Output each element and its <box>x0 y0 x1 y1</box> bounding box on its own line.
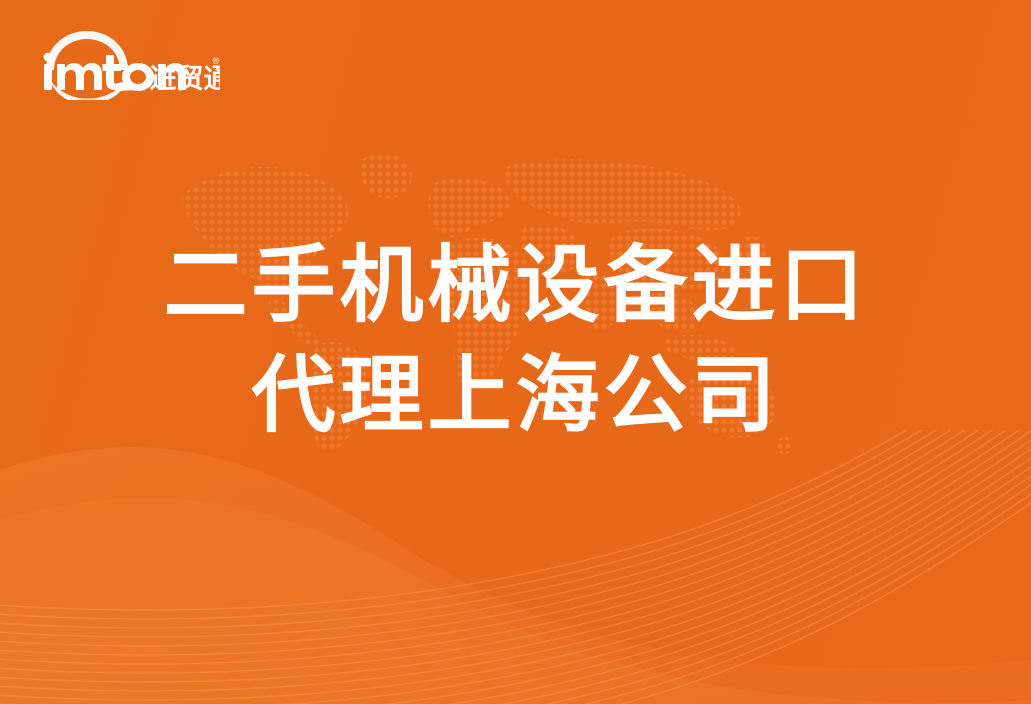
headline-line-1: 二手机械设备进口 <box>0 243 1031 327</box>
headline-line-2: 代理上海公司 <box>0 353 1031 437</box>
promo-banner: 进贸通 ® 二手机械设备进口 代理上海公司 <box>0 0 1031 704</box>
registered-trademark-icon: ® <box>212 57 221 67</box>
company-logo[interactable]: 进贸通 ® <box>38 28 220 100</box>
logo-chinese-name: 进贸通 <box>150 64 221 95</box>
headline-block: 二手机械设备进口 代理上海公司 <box>0 243 1031 437</box>
